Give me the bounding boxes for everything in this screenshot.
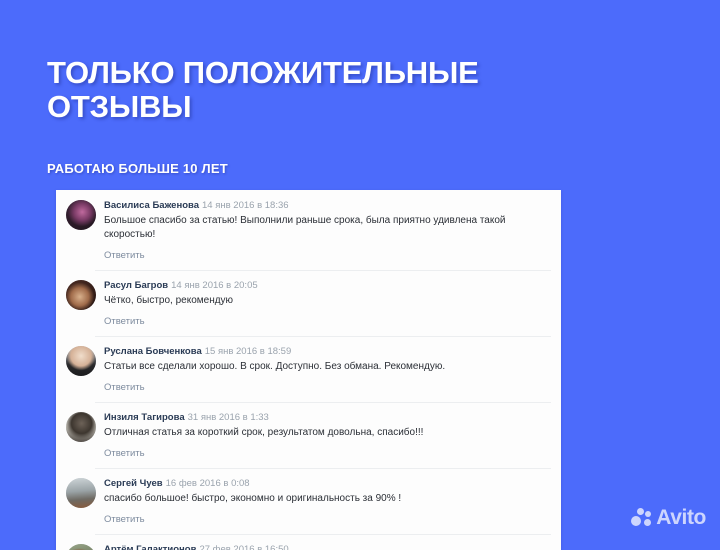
- review-item: Руслана Бовченкова15 янв 2016 в 18:59 Ст…: [56, 336, 561, 402]
- review-text: Отличная статья за короткий срок, резуль…: [104, 426, 549, 440]
- reply-link[interactable]: Ответить: [104, 447, 145, 460]
- reply-link[interactable]: Ответить: [104, 513, 145, 526]
- avito-wordmark: Avito: [656, 507, 706, 528]
- avito-watermark: Avito: [631, 507, 706, 528]
- review-body: Инзиля Тагирова31 янв 2016 в 1:33 Отличн…: [104, 411, 549, 461]
- page-title: ТОЛЬКО ПОЛОЖИТЕЛЬНЫЕ ОТЗЫВЫ: [47, 56, 587, 124]
- review-body: Василиса Баженова14 янв 2016 в 18:36 Бол…: [104, 199, 549, 263]
- avatar-image: [66, 280, 96, 310]
- review-body: Сергей Чуев16 фев 2016 в 0:08 спасибо бо…: [104, 477, 549, 527]
- review-item: Расул Багров14 янв 2016 в 20:05 Чётко, б…: [56, 270, 561, 336]
- review-timestamp: 14 янв 2016 в 20:05: [171, 280, 258, 291]
- avatar-image: [66, 346, 96, 376]
- reply-link[interactable]: Ответить: [104, 249, 145, 262]
- review-timestamp: 14 янв 2016 в 18:36: [202, 200, 289, 211]
- review-item: Инзиля Тагирова31 янв 2016 в 1:33 Отличн…: [56, 402, 561, 468]
- review-meta: Василиса Баженова14 янв 2016 в 18:36: [104, 199, 549, 212]
- review-author: Василиса Баженова: [104, 200, 199, 211]
- reply-link[interactable]: Ответить: [104, 315, 145, 328]
- reply-link[interactable]: Ответить: [104, 381, 145, 394]
- promo-page: ТОЛЬКО ПОЛОЖИТЕЛЬНЫЕ ОТЗЫВЫ РАБОТАЮ БОЛЬ…: [0, 0, 720, 540]
- avito-dots-icon: [631, 508, 653, 527]
- review-meta: Расул Багров14 янв 2016 в 20:05: [104, 279, 549, 292]
- avatar: [66, 544, 96, 550]
- review-author: Инзиля Тагирова: [104, 412, 185, 423]
- review-author: Руслана Бовченкова: [104, 346, 202, 357]
- avatar: [66, 280, 96, 310]
- review-item: Сергей Чуев16 фев 2016 в 0:08 спасибо бо…: [56, 468, 561, 534]
- avatar-image: [66, 200, 96, 230]
- review-item: Артём Галактионов27 фев 2016 в 16:50 Зак…: [56, 534, 561, 550]
- review-timestamp: 15 янв 2016 в 18:59: [205, 346, 292, 357]
- avatar: [66, 478, 96, 508]
- avatar-image: [66, 478, 96, 508]
- headline-block: ТОЛЬКО ПОЛОЖИТЕЛЬНЫЕ ОТЗЫВЫ: [47, 56, 587, 124]
- avatar: [66, 346, 96, 376]
- review-text: Статьи все сделали хорошо. В срок. Досту…: [104, 360, 549, 374]
- review-timestamp: 16 фев 2016 в 0:08: [166, 478, 250, 489]
- review-text: спасибо большое! быстро, экономно и ориг…: [104, 492, 549, 506]
- review-text: Чётко, быстро, рекомендую: [104, 294, 549, 308]
- review-meta: Артём Галактионов27 фев 2016 в 16:50: [104, 543, 549, 550]
- review-author: Расул Багров: [104, 280, 168, 291]
- review-item: Василиса Баженова14 янв 2016 в 18:36 Бол…: [56, 190, 561, 270]
- page-subtitle: РАБОТАЮ БОЛЬШЕ 10 ЛЕТ: [47, 161, 228, 177]
- avatar: [66, 200, 96, 230]
- reviews-card: Василиса Баженова14 янв 2016 в 18:36 Бол…: [56, 190, 561, 550]
- review-timestamp: 27 фев 2016 в 16:50: [199, 544, 288, 550]
- review-author: Артём Галактионов: [104, 544, 196, 550]
- review-body: Артём Галактионов27 фев 2016 в 16:50 Зак…: [104, 543, 549, 550]
- avatar-image: [66, 544, 96, 550]
- review-body: Руслана Бовченкова15 янв 2016 в 18:59 Ст…: [104, 345, 549, 395]
- review-meta: Руслана Бовченкова15 янв 2016 в 18:59: [104, 345, 549, 358]
- review-meta: Инзиля Тагирова31 янв 2016 в 1:33: [104, 411, 549, 424]
- avatar: [66, 412, 96, 442]
- avatar-image: [66, 412, 96, 442]
- review-author: Сергей Чуев: [104, 478, 163, 489]
- review-text: Большое спасибо за статью! Выполнили ран…: [104, 214, 549, 242]
- review-meta: Сергей Чуев16 фев 2016 в 0:08: [104, 477, 549, 490]
- review-timestamp: 31 янв 2016 в 1:33: [188, 412, 269, 423]
- review-body: Расул Багров14 янв 2016 в 20:05 Чётко, б…: [104, 279, 549, 329]
